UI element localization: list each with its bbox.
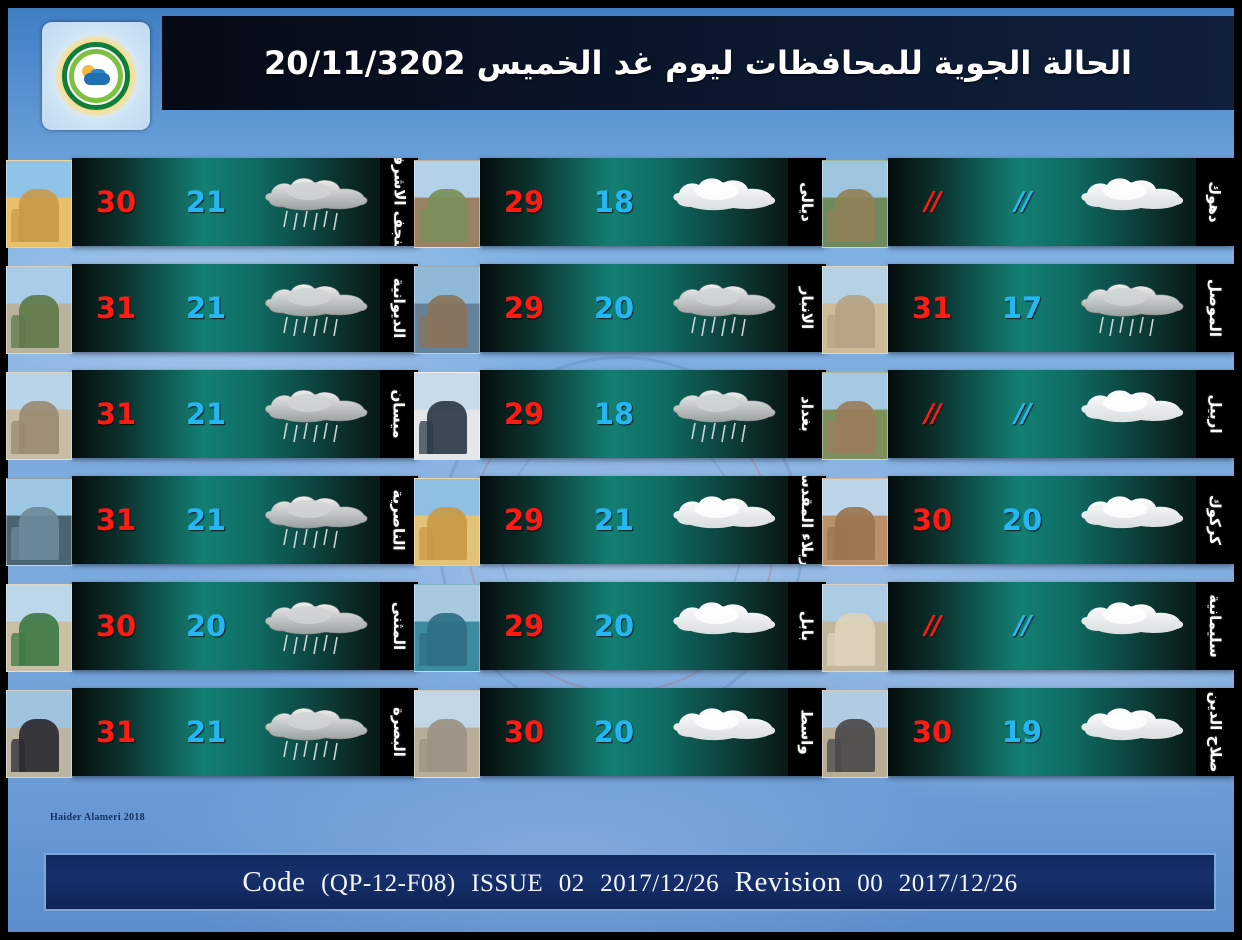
province-landmark-photo: [6, 584, 72, 672]
title-bar: الحالة الجوية للمحافظات ليوم غد الخميس 2…: [162, 16, 1234, 110]
cloud-icon: [1068, 489, 1196, 551]
province-card[interactable]: الانبار2029: [480, 264, 826, 352]
max-temperature: 30: [888, 503, 976, 537]
province-row[interactable]: النجف الاشرف2130: [16, 158, 424, 256]
organization-logo-icon: [42, 22, 150, 130]
min-temperature: 17: [976, 291, 1068, 325]
page-title: الحالة الجوية للمحافظات ليوم غد الخميس 2…: [264, 44, 1132, 82]
province-name-box: ديالى: [788, 158, 826, 246]
max-temperature: //: [888, 399, 976, 429]
max-temperature: 31: [72, 397, 160, 431]
province-name-box: بابل: [788, 582, 826, 670]
footer-revision-label: Revision: [735, 866, 842, 898]
province-name-label: الديوانية: [390, 278, 408, 338]
min-temperature: //: [976, 611, 1068, 641]
province-landmark-photo: [414, 160, 480, 248]
province-row[interactable]: ديالى1829: [424, 158, 832, 256]
max-temperature: 29: [480, 185, 568, 219]
cloud-icon: [660, 701, 788, 763]
province-column-northern-provinces: دهوك////الموصل1731اربيل////كركوك2030سليم…: [832, 158, 1240, 818]
max-temperature: 29: [480, 291, 568, 325]
max-temperature: 30: [888, 715, 976, 749]
province-card[interactable]: ميسان2131: [72, 370, 418, 458]
rain-cloud-icon: [252, 701, 380, 763]
province-name-label: دهوك: [1206, 181, 1224, 222]
province-card[interactable]: دهوك////: [888, 158, 1234, 246]
province-name-box: كربلاء المقدسة: [788, 476, 826, 564]
province-name-label: الموصل: [1206, 279, 1224, 337]
province-row[interactable]: الناصرية2131: [16, 476, 424, 574]
province-name-label: النجف الاشرف: [390, 158, 408, 246]
province-card[interactable]: البصرة2131: [72, 688, 418, 776]
province-card[interactable]: اربيل////: [888, 370, 1234, 458]
min-temperature: 21: [568, 503, 660, 537]
province-card[interactable]: كربلاء المقدسة2129: [480, 476, 826, 564]
province-row[interactable]: الموصل1731: [832, 264, 1240, 362]
rain-cloud-icon: [660, 383, 788, 445]
province-landmark-photo: [822, 690, 888, 778]
max-temperature: 31: [72, 291, 160, 325]
footer-revision-date: 2017/12/26: [899, 870, 1018, 897]
province-card[interactable]: ديالى1829: [480, 158, 826, 246]
province-name-label: ديالى: [798, 182, 816, 222]
province-name-label: كربلاء المقدسة: [798, 476, 816, 564]
province-row[interactable]: البصرة2131: [16, 688, 424, 786]
province-name-box: صلاح الدين: [1196, 688, 1234, 776]
province-row[interactable]: بابل2029: [424, 582, 832, 680]
province-card[interactable]: بابل2029: [480, 582, 826, 670]
max-temperature: 31: [72, 503, 160, 537]
max-temperature: 31: [72, 715, 160, 749]
footer-issue-date: 2017/12/26: [600, 870, 719, 897]
province-landmark-photo: [6, 690, 72, 778]
rain-cloud-icon: [252, 277, 380, 339]
province-card[interactable]: كركوك2030: [888, 476, 1234, 564]
footer-bar: Code (QP-12-F08) ISSUE 02 2017/12/26 Rev…: [44, 853, 1216, 911]
province-name-label: كركوك: [1206, 495, 1224, 545]
rain-cloud-icon: [1068, 277, 1196, 339]
footer-text: Code (QP-12-F08) ISSUE 02 2017/12/26 Rev…: [242, 866, 1017, 899]
province-landmark-photo: [414, 584, 480, 672]
footer-issue-label: ISSUE: [471, 870, 543, 897]
province-name-label: اربيل: [1206, 395, 1224, 434]
province-column-central-provinces: ديالى1829الانبار2029بغداد1829كربلاء المق…: [424, 158, 832, 818]
province-name-box: واسط: [788, 688, 826, 776]
credit-text: Haider Alameri 2018: [50, 812, 145, 823]
province-name-box: سليمانية: [1196, 582, 1234, 670]
province-row[interactable]: بغداد1829: [424, 370, 832, 468]
province-landmark-photo: [414, 266, 480, 354]
cloud-icon: [660, 595, 788, 657]
province-name-box: اربيل: [1196, 370, 1234, 458]
province-row[interactable]: الديوانية2131: [16, 264, 424, 362]
min-temperature: //: [976, 187, 1068, 217]
min-temperature: 19: [976, 715, 1068, 749]
cloud-icon: [660, 489, 788, 551]
province-name-label: المثنى: [390, 602, 408, 650]
min-temperature: 21: [160, 715, 252, 749]
min-temperature: 20: [568, 609, 660, 643]
rain-cloud-icon: [252, 171, 380, 233]
min-temperature: 20: [568, 715, 660, 749]
max-temperature: 29: [480, 397, 568, 431]
province-row[interactable]: كركوك2030: [832, 476, 1240, 574]
province-row[interactable]: الانبار2029: [424, 264, 832, 362]
min-temperature: 20: [160, 609, 252, 643]
min-temperature: //: [976, 399, 1068, 429]
province-name-box: النجف الاشرف: [380, 158, 418, 246]
province-card[interactable]: الموصل1731: [888, 264, 1234, 352]
max-temperature: 29: [480, 503, 568, 537]
rain-cloud-icon: [252, 595, 380, 657]
weather-board: الحالة الجوية للمحافظات ليوم غد الخميس 2…: [0, 0, 1242, 940]
province-name-box: كركوك: [1196, 476, 1234, 564]
footer-issue-value: 02: [559, 870, 585, 897]
max-temperature: 29: [480, 609, 568, 643]
min-temperature: 21: [160, 291, 252, 325]
province-card[interactable]: النجف الاشرف2130: [72, 158, 418, 246]
province-name-label: الانبار: [798, 287, 816, 329]
province-name-box: الديوانية: [380, 264, 418, 352]
province-landmark-photo: [822, 372, 888, 460]
max-temperature: 30: [72, 185, 160, 219]
rain-cloud-icon: [252, 489, 380, 551]
province-card[interactable]: سليمانية////: [888, 582, 1234, 670]
province-name-box: ميسان: [380, 370, 418, 458]
min-temperature: 21: [160, 185, 252, 219]
province-name-box: الموصل: [1196, 264, 1234, 352]
max-temperature: 30: [72, 609, 160, 643]
province-card[interactable]: واسط2030: [480, 688, 826, 776]
province-name-label: واسط: [798, 709, 816, 754]
province-column-south-central-provinces: النجف الاشرف2130الديوانية2131ميسان2131ال…: [16, 158, 424, 818]
rain-cloud-icon: [660, 277, 788, 339]
footer-code-value: (QP-12-F08): [321, 870, 456, 897]
province-name-label: بابل: [798, 611, 816, 641]
cloud-icon: [1068, 383, 1196, 445]
province-name-box: الناصرية: [380, 476, 418, 564]
province-row[interactable]: واسط2030: [424, 688, 832, 786]
max-temperature: //: [888, 187, 976, 217]
max-temperature: 30: [480, 715, 568, 749]
cloud-icon: [660, 171, 788, 233]
province-name-label: صلاح الدين: [1206, 692, 1224, 773]
province-landmark-photo: [414, 690, 480, 778]
min-temperature: 21: [160, 397, 252, 431]
province-row[interactable]: سليمانية////: [832, 582, 1240, 680]
max-temperature: //: [888, 611, 976, 641]
min-temperature: 20: [976, 503, 1068, 537]
cloud-icon: [1068, 171, 1196, 233]
province-card[interactable]: صلاح الدين1930: [888, 688, 1234, 776]
province-row[interactable]: كربلاء المقدسة2129: [424, 476, 832, 574]
footer-code-label: Code: [242, 866, 305, 898]
province-card[interactable]: الناصرية2131: [72, 476, 418, 564]
province-card[interactable]: الديوانية2131: [72, 264, 418, 352]
province-landmark-photo: [414, 478, 480, 566]
province-name-label: ميسان: [390, 389, 408, 438]
province-grid: النجف الاشرف2130الديوانية2131ميسان2131ال…: [16, 158, 1242, 818]
min-temperature: 20: [568, 291, 660, 325]
province-landmark-photo: [822, 160, 888, 248]
min-temperature: 21: [160, 503, 252, 537]
province-row[interactable]: ميسان2131: [16, 370, 424, 468]
province-name-label: بغداد: [798, 396, 816, 432]
province-name-box: بغداد: [788, 370, 826, 458]
cloud-icon: [1068, 701, 1196, 763]
province-name-box: الانبار: [788, 264, 826, 352]
province-landmark-photo: [822, 478, 888, 566]
province-name-box: المثنى: [380, 582, 418, 670]
province-landmark-photo: [822, 584, 888, 672]
province-row[interactable]: اربيل////: [832, 370, 1240, 468]
min-temperature: 18: [568, 185, 660, 219]
cloud-icon: [1068, 595, 1196, 657]
province-landmark-photo: [6, 372, 72, 460]
min-temperature: 18: [568, 397, 660, 431]
province-name-label: سليمانية: [1206, 594, 1224, 658]
province-landmark-photo: [6, 266, 72, 354]
province-row[interactable]: المثنى2030: [16, 582, 424, 680]
province-name-label: البصرة: [390, 707, 408, 757]
max-temperature: 31: [888, 291, 976, 325]
province-landmark-photo: [6, 478, 72, 566]
footer-revision-value: 00: [857, 870, 883, 897]
province-row[interactable]: دهوك////: [832, 158, 1240, 256]
province-card[interactable]: بغداد1829: [480, 370, 826, 458]
province-name-box: البصرة: [380, 688, 418, 776]
province-name-box: دهوك: [1196, 158, 1234, 246]
province-landmark-photo: [414, 372, 480, 460]
province-name-label: الناصرية: [390, 489, 408, 550]
province-row[interactable]: صلاح الدين1930: [832, 688, 1240, 786]
province-landmark-photo: [822, 266, 888, 354]
header: الحالة الجوية للمحافظات ليوم غد الخميس 2…: [16, 8, 1242, 126]
province-landmark-photo: [6, 160, 72, 248]
rain-cloud-icon: [252, 383, 380, 445]
province-card[interactable]: المثنى2030: [72, 582, 418, 670]
